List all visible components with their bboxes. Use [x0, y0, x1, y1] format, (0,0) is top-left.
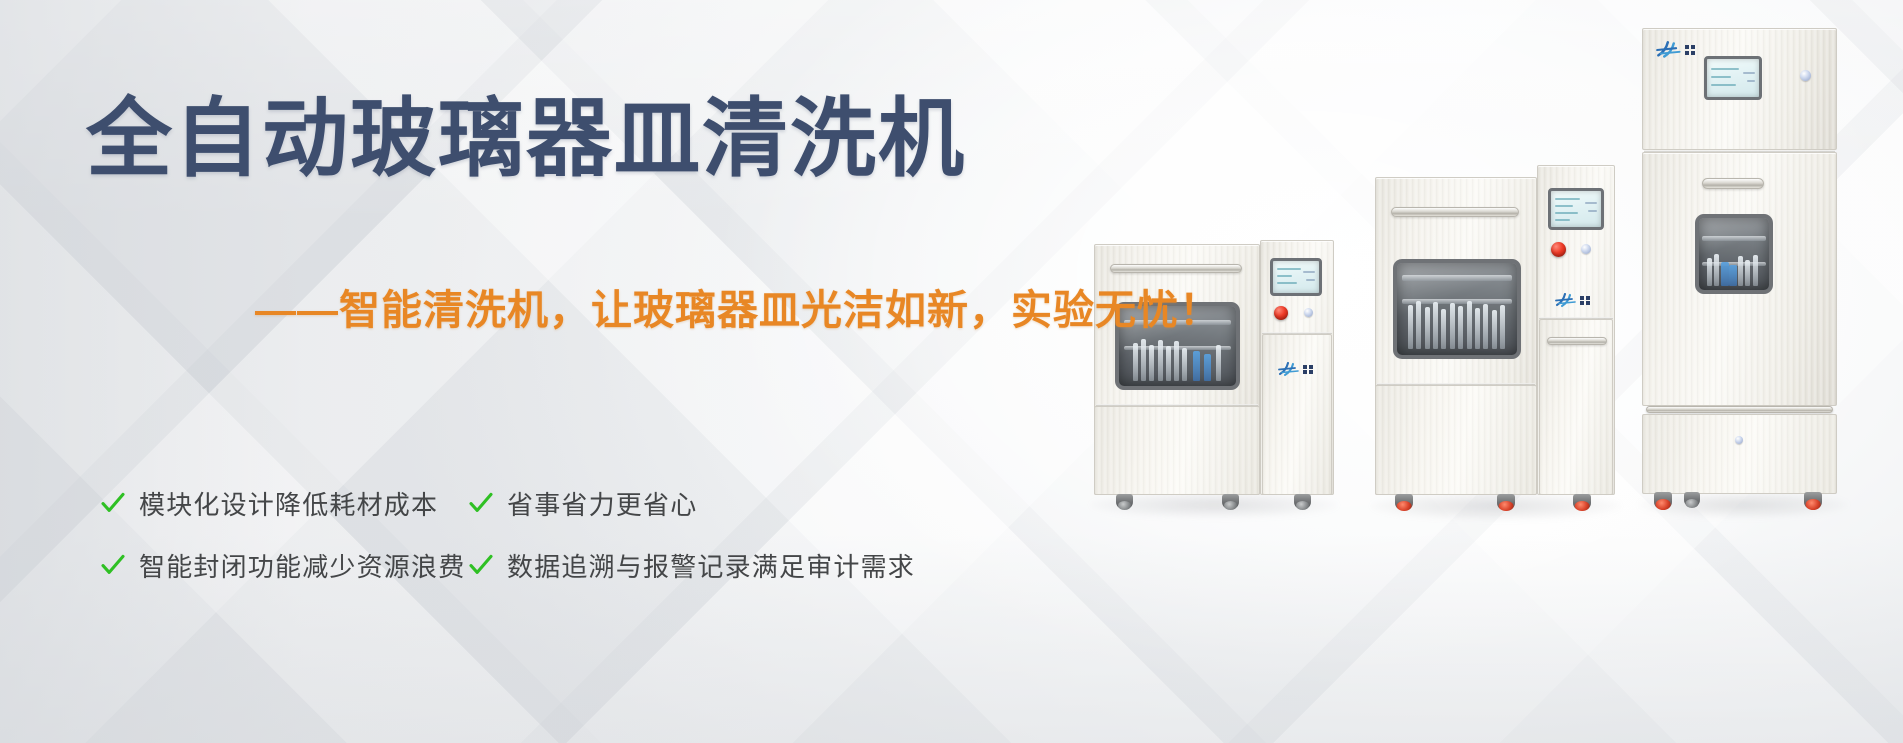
brand-h-mark [1555, 293, 1577, 308]
brand-h-mark [1278, 362, 1300, 377]
caster-wheel [1395, 494, 1413, 510]
feature-item: 智能封闭功能减少资源浪费 [100, 547, 460, 584]
product-image-undercounter-washer [1094, 240, 1334, 510]
control-touchscreen[interactable] [1548, 188, 1604, 230]
check-icon [100, 552, 126, 578]
power-indicator-button[interactable] [1581, 244, 1591, 254]
banner-headline: 全自动玻璃器皿清洗机 [86, 96, 966, 182]
brand-h-mark [1656, 41, 1682, 59]
brand-logo [1555, 293, 1590, 308]
check-icon [468, 490, 494, 516]
emergency-stop-button[interactable] [1551, 242, 1566, 257]
feature-label: 模块化设计降低耗材成本 [139, 485, 438, 522]
lower-service-door [1375, 385, 1537, 495]
caster-wheel [1573, 494, 1591, 510]
product-image-column-washer [1642, 28, 1842, 510]
brand-square-dots [1685, 45, 1695, 55]
brand-square-dots [1580, 296, 1590, 306]
feature-item: 模块化设计降低耗材成本 [100, 485, 460, 522]
control-touchscreen[interactable] [1704, 56, 1762, 100]
chamber-viewing-window [1393, 259, 1521, 359]
feature-label: 智能封闭功能减少资源浪费 [139, 547, 465, 584]
check-icon [468, 552, 494, 578]
feature-item: 省事省力更省心 [468, 485, 868, 522]
banner-text-content: 全自动玻璃器皿清洗机 ——智能清洗机，让玻璃器皿光洁如新，实验无忧！ 模块化设计… [0, 0, 1100, 743]
brand-logo [1278, 362, 1313, 377]
power-indicator-button[interactable] [1304, 308, 1313, 317]
base-cabinet-door [1642, 414, 1837, 494]
emergency-stop-button[interactable] [1274, 306, 1288, 320]
chamber-viewing-window [1695, 214, 1773, 294]
compartment-handle [1547, 337, 1607, 345]
base-door-handle [1646, 406, 1833, 413]
product-image-group [1080, 0, 1903, 743]
caster-wheel [1684, 492, 1700, 507]
caster-wheel [1222, 494, 1239, 509]
banner-subheadline: ——智能清洗机，让玻璃器皿光洁如新，实验无忧！ [255, 290, 1221, 331]
feature-label: 数据追溯与报警记录满足审计需求 [507, 547, 915, 584]
base-latch-button[interactable] [1735, 436, 1743, 444]
caster-wheel [1497, 494, 1515, 510]
caster-wheel [1294, 494, 1311, 509]
lower-service-door [1094, 406, 1260, 495]
check-icon [100, 490, 126, 516]
caster-wheel [1804, 492, 1822, 509]
brand-square-dots [1303, 365, 1313, 375]
product-image-freestanding-washer [1375, 165, 1615, 510]
feature-label: 省事省力更省心 [507, 485, 697, 522]
feature-item: 数据追溯与报警记录满足审计需求 [468, 547, 868, 584]
control-touchscreen[interactable] [1270, 258, 1322, 296]
product-hero-banner: 全自动玻璃器皿清洗机 ——智能清洗机，让玻璃器皿光洁如新，实验无忧！ 模块化设计… [0, 0, 1903, 743]
caster-wheel [1116, 494, 1133, 509]
chamber-handle [1702, 178, 1764, 189]
feature-list: 模块化设计降低耗材成本 省事省力更省心 智能封闭功能减少资源浪费 数据追溯与报警… [100, 472, 940, 596]
chamber-handle [1110, 264, 1242, 273]
power-indicator-button[interactable] [1800, 70, 1811, 81]
chamber-handle [1391, 207, 1519, 217]
brand-logo [1656, 41, 1695, 59]
caster-wheel [1654, 492, 1672, 509]
reagent-compartment-door [1539, 319, 1613, 495]
reagent-compartment-door [1262, 334, 1332, 495]
